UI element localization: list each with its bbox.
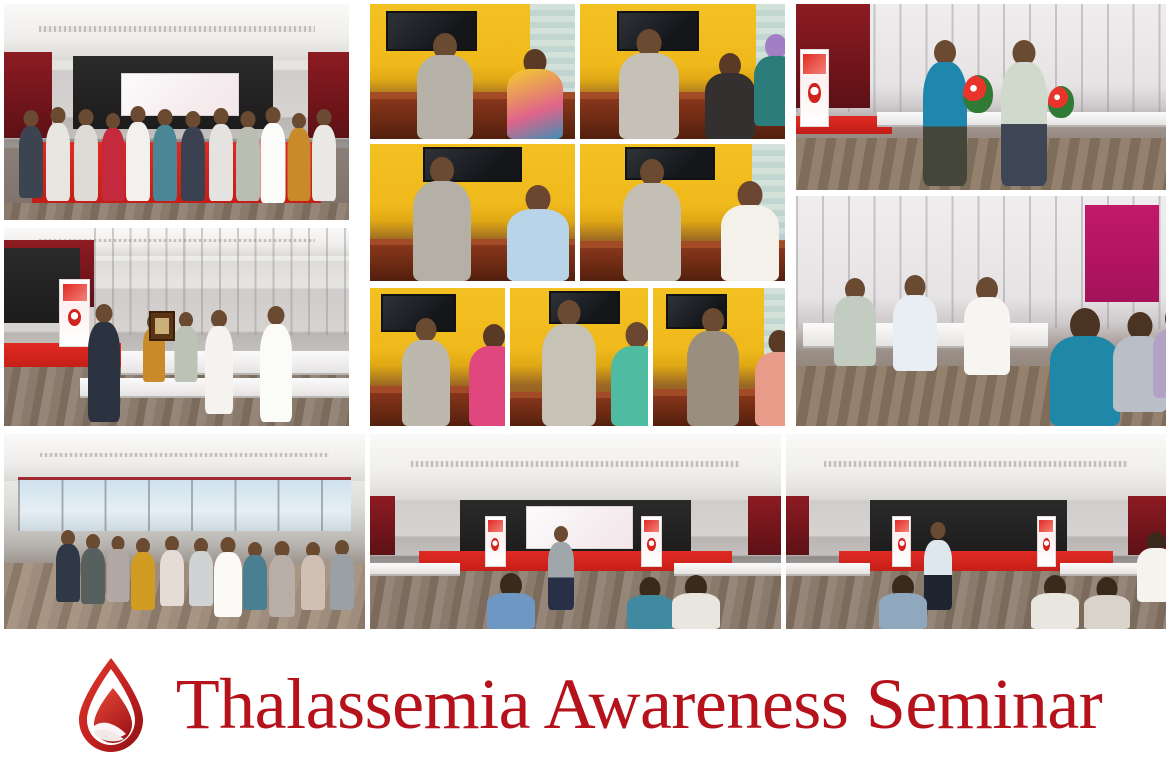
person — [235, 111, 261, 201]
person — [87, 304, 121, 422]
rollup-banner — [485, 516, 506, 567]
person — [259, 107, 286, 203]
donor-person — [703, 53, 757, 139]
red-wall-left — [370, 496, 395, 555]
photo-bouquet-presentation — [796, 4, 1166, 190]
scene-blood-draw-room — [370, 4, 575, 139]
photo-blood-sample-woman-glasses — [653, 288, 785, 426]
scene-blood-draw-room — [370, 288, 505, 426]
scene-bright-room — [4, 434, 365, 629]
collage-poster: Thalassemia Awareness Seminar — [0, 0, 1170, 779]
photo-blood-sample-woman-yellow — [370, 4, 575, 139]
assistant-person — [752, 34, 785, 126]
donor-person — [609, 322, 648, 426]
photo-group-photo-stage — [4, 4, 349, 220]
ceiling — [786, 434, 1166, 500]
attendee-foreground — [877, 575, 929, 629]
photo-presenter-with-screen — [370, 434, 781, 629]
scene-panel-room — [796, 196, 1166, 426]
audience-person — [159, 536, 185, 606]
presenter — [547, 526, 575, 610]
conference-table — [786, 563, 870, 577]
audience-person — [329, 540, 355, 610]
attendee — [1151, 306, 1166, 398]
technician — [411, 157, 473, 281]
donor-person — [467, 324, 505, 426]
projection-screen — [526, 506, 633, 549]
person-presenting — [922, 40, 968, 186]
attendee-foreground — [1029, 575, 1081, 629]
scene-blood-draw-room — [370, 144, 575, 281]
poster-footer: Thalassemia Awareness Seminar — [0, 633, 1170, 779]
person — [73, 109, 99, 201]
donor-person — [505, 185, 571, 281]
photo-blood-sample-woman-floral — [580, 4, 785, 139]
scene-hall — [4, 228, 349, 426]
audience-person — [105, 536, 130, 602]
photo-grid — [0, 0, 1170, 633]
panelist — [963, 277, 1011, 375]
photo-crest-handover — [4, 228, 349, 426]
audience-person — [268, 541, 296, 617]
person — [45, 107, 71, 201]
audience-person — [188, 538, 214, 606]
window-wall — [18, 477, 350, 532]
attendee-foreground — [1082, 577, 1132, 629]
blood-drop-in-hand-logo — [68, 654, 154, 758]
photo-audience-seated — [4, 434, 365, 629]
person — [208, 108, 234, 201]
audience-person — [55, 530, 81, 602]
scene-hall — [796, 4, 1166, 190]
photo-blood-sample-man-white — [580, 144, 785, 281]
floor — [4, 203, 349, 220]
rollup-banner — [59, 279, 90, 346]
scene-hall — [4, 4, 349, 220]
person-receiving — [1000, 40, 1048, 186]
scene-hall — [370, 434, 781, 629]
technician — [621, 159, 683, 281]
red-wall-right — [748, 496, 781, 555]
red-wall-left — [786, 496, 809, 555]
person — [311, 109, 337, 201]
photo-blood-sample-man-blue — [370, 144, 575, 281]
panelist — [833, 278, 877, 366]
wall-sign — [1085, 205, 1159, 302]
audience-person — [242, 542, 268, 610]
person — [180, 111, 206, 201]
person — [125, 106, 151, 201]
ceiling — [4, 434, 365, 481]
photo-blood-sample-man-green — [510, 288, 648, 426]
attendee-foreground — [670, 575, 722, 629]
attendee-foreground — [485, 573, 537, 629]
rollup-banner — [800, 49, 830, 127]
donor-person — [505, 49, 565, 139]
audience-person — [80, 534, 106, 604]
scene-blood-draw-room — [580, 144, 785, 281]
rollup-banner — [1037, 516, 1056, 567]
floor — [796, 138, 1166, 190]
audience-person — [300, 542, 326, 610]
technician — [685, 308, 741, 426]
photo-panel-discussion — [796, 196, 1166, 426]
person — [18, 110, 44, 198]
person — [259, 306, 293, 422]
attendee — [1136, 532, 1166, 602]
conference-table — [370, 563, 460, 577]
audience-person — [213, 537, 243, 617]
technician — [617, 29, 681, 139]
person — [287, 113, 312, 201]
scene-blood-draw-room — [510, 288, 648, 426]
person — [204, 310, 234, 414]
scene-blood-draw-room — [653, 288, 785, 426]
attendee-foreground — [625, 577, 675, 629]
scene-blood-draw-room — [580, 4, 785, 139]
person — [152, 109, 178, 201]
flower-bouquet — [1048, 86, 1074, 118]
technician — [400, 318, 452, 426]
technician — [415, 33, 475, 139]
flower-bouquet — [963, 75, 993, 113]
scene-hall — [786, 434, 1166, 629]
panelist-speaking — [892, 275, 938, 371]
photo-speaker-with-microphone — [786, 434, 1166, 629]
rollup-banner — [892, 516, 911, 567]
audience-person — [130, 538, 156, 610]
technician — [540, 300, 598, 426]
person — [101, 113, 125, 201]
page-title: Thalassemia Awareness Seminar — [176, 668, 1103, 744]
photo-blood-sample-woman-pink — [370, 288, 505, 426]
person — [173, 312, 198, 382]
donor-person — [719, 181, 781, 281]
ceiling — [4, 4, 349, 60]
rollup-banner — [641, 516, 662, 567]
donor-person — [753, 330, 785, 426]
ceiling — [370, 434, 781, 500]
crest-plaque — [149, 311, 175, 341]
